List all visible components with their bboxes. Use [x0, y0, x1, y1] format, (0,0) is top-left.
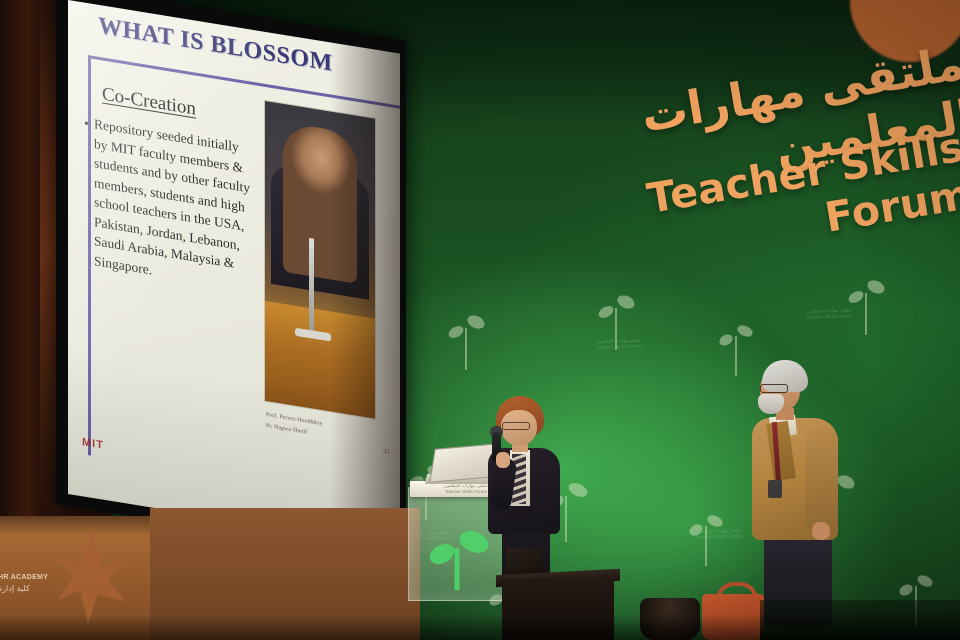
academy-name: HR ACADEMY [0, 572, 58, 583]
photo-microphone-stand [309, 238, 314, 334]
podium-sprout-svg [429, 526, 491, 590]
man-arm [806, 426, 838, 534]
projection-screen-frame: WHAT IS BLOSSOM Co-Creation • Repository… [56, 0, 406, 561]
speaker-man [740, 360, 850, 628]
man-badge [768, 480, 782, 498]
woman-glasses-icon [502, 422, 530, 430]
mit-logo: MIT [82, 436, 104, 452]
man-hand [812, 522, 830, 540]
slide-bullet-text: Repository seeded initially by MIT facul… [94, 116, 250, 277]
woman-hand [496, 452, 510, 468]
podium-sprout-icon [429, 526, 491, 590]
man-glasses-icon [760, 384, 788, 393]
left-wall-dark-panel [0, 0, 40, 530]
bullet-marker: • [84, 115, 89, 135]
star-logo-svg [52, 528, 126, 624]
star-logo [52, 528, 126, 624]
slide-photograph [264, 100, 376, 420]
slide-bullet-item: • Repository seeded initially by MIT fac… [94, 114, 254, 296]
projection-screen: WHAT IS BLOSSOM Co-Creation • Repository… [68, 0, 400, 548]
photo-head [283, 122, 357, 284]
slide-page-number: 42 [383, 447, 390, 456]
academy-name-arabic: كلية إدارة [0, 583, 58, 594]
academy-wall-label: HR ACADEMY كلية إدارة [0, 572, 58, 594]
conference-stage-photo: ملتقى مهارات المعلمين Teacher Skills For… [0, 0, 960, 640]
bottom-fade [0, 614, 960, 640]
photo-lectern [265, 301, 375, 419]
